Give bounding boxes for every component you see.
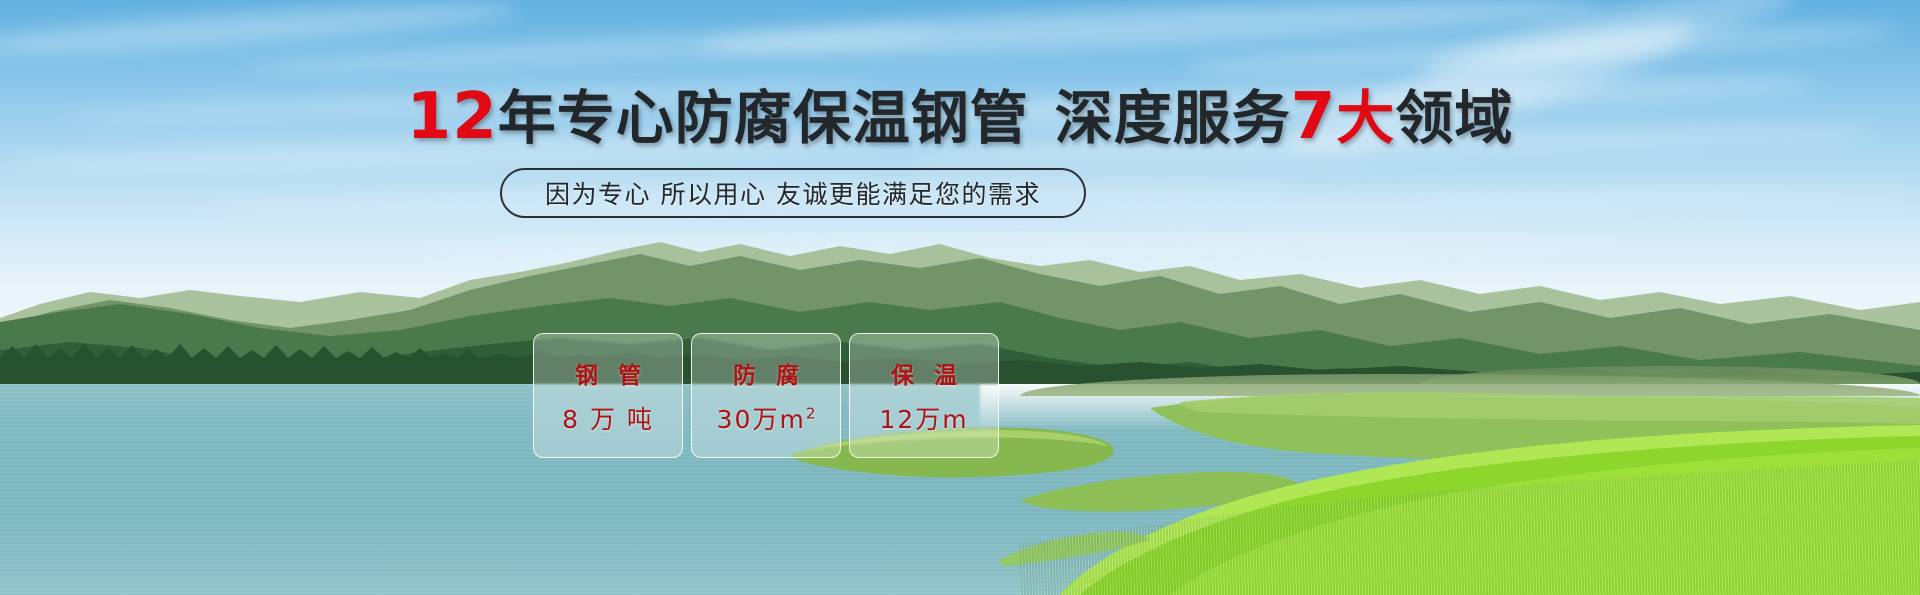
subtitle-pill: 因为专心 所以用心 友诚更能满足您的需求 — [500, 168, 1086, 218]
headline-number-fields: 7 — [1291, 80, 1337, 154]
stat-card-label: 保 温 — [885, 356, 963, 390]
stat-card-label: 钢 管 — [569, 356, 647, 390]
headline-number-years: 12 — [407, 80, 498, 154]
headline-text-primary: 年专心防腐保温钢管 — [498, 84, 1029, 152]
stat-card-value-main: 12万m — [879, 405, 968, 434]
stat-card-group: 钢 管 8 万 吨 防 腐 30万m2 保 温 12万m — [533, 333, 999, 458]
stat-card-label: 防 腐 — [727, 356, 805, 390]
headline-dark-suffix: 领域 — [1395, 84, 1513, 152]
headline-text-secondary: 深度服务 — [1055, 84, 1291, 152]
stat-card-steel-pipe[interactable]: 钢 管 8 万 吨 — [533, 333, 683, 458]
stat-card-value-main: 8 万 吨 — [562, 405, 654, 434]
headline-red-suffix: 大 — [1336, 84, 1395, 152]
stat-card-value: 12万m — [879, 400, 968, 436]
subtitle-text: 因为专心 所以用心 友诚更能满足您的需求 — [545, 175, 1041, 211]
stat-card-value-superscript: 2 — [806, 404, 816, 422]
stat-card-anticorrosion[interactable]: 防 腐 30万m2 — [691, 333, 841, 458]
stat-card-insulation[interactable]: 保 温 12万m — [849, 333, 999, 458]
page-title: 12年专心防腐保温钢管深度服务7大领域 — [0, 86, 1920, 149]
stat-card-value: 30万m2 — [717, 400, 816, 436]
promo-banner: 12年专心防腐保温钢管深度服务7大领域 因为专心 所以用心 友诚更能满足您的需求… — [0, 0, 1920, 595]
stat-card-value: 8 万 吨 — [562, 400, 654, 436]
stat-card-value-main: 30万m — [717, 405, 806, 434]
